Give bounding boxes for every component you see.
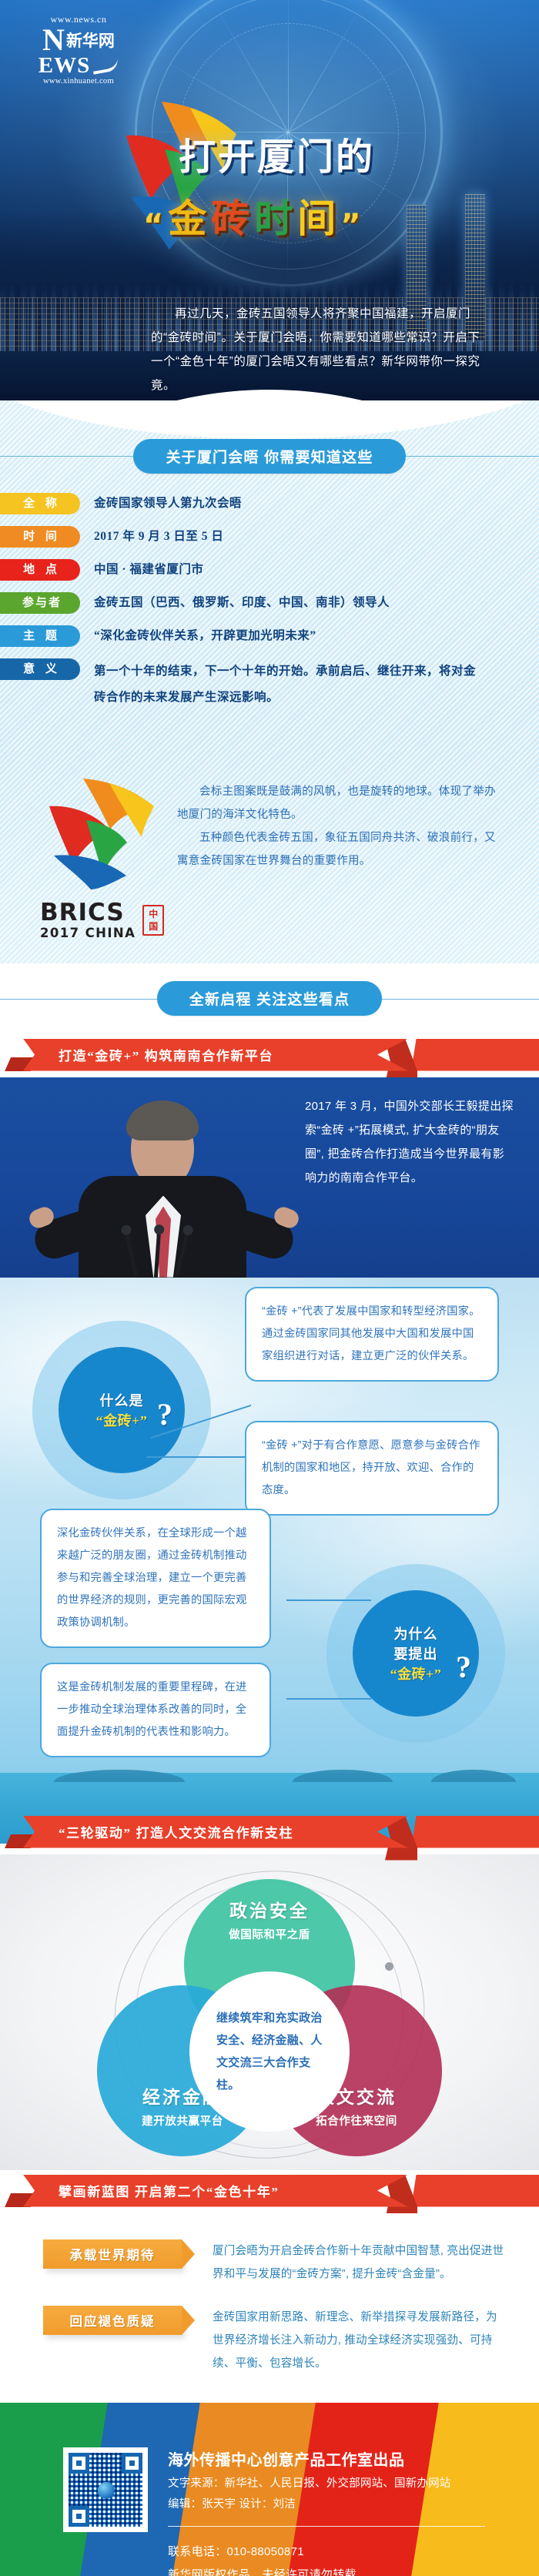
island-silhouette (293, 1770, 393, 1782)
banner-blueprint-label: 擘画新蓝图 开启第二个“金色十年” (23, 2181, 279, 2200)
ribbon-right-bar (411, 1816, 539, 1848)
footer-phone: 联系电话：010-88050871 (168, 2541, 499, 2564)
answer-bubble-3: 深化金砖伙伴关系，在全球形成一个越来越广泛的朋友圈，通过金砖机制推动参与和完善全… (40, 1509, 271, 1648)
island-silhouette (431, 1770, 516, 1782)
section-heading-facts: 关于厦门会晤 你需要知道这些 (0, 434, 539, 477)
qr-code[interactable] (63, 2447, 148, 2532)
emblem-explainer-section: BRICS 2017 CHINA 中 国 会标主图案既是鼓满的风帆，也是旋转的地… (0, 751, 539, 963)
ribbon-body: 擘画新蓝图 开启第二个“金色十年” (23, 2175, 408, 2207)
xinhua-logo: www.news.cn N 新华网 EWS www.xinhuanet.com (32, 14, 125, 85)
hero-title-main: 打开厦门的 (179, 126, 375, 180)
gold-text-expectation: 厦门会晤为开启金砖合作新十年贡献中国智慧, 亮出促进世界和平与发展的“金砖方案”… (213, 2239, 505, 2286)
fact-row: 地 点 中国 · 福建省厦门市 (18, 559, 517, 581)
figure-hair (126, 1100, 199, 1141)
question-2-badge: 为什么 要提出 “金砖+” ? (326, 1564, 505, 1743)
fact-value-full-name: 金砖国家领导人第九次会晤 (94, 493, 242, 514)
brics-sail-emblem (40, 775, 171, 891)
brics-plus-description: 2017 年 3 月，中国外交部长王毅提出探索“金砖 +”拓展模式, 扩大金砖的… (305, 1094, 514, 1190)
wangyi-photo (34, 1099, 288, 1278)
globe-icon (98, 2482, 115, 2499)
banner-three-wheels: “三轮驱动” 打造人文交流合作新支柱 (0, 1811, 539, 1854)
banner-three-wheels-label: “三轮驱动” 打造人文交流合作新支柱 (23, 1822, 293, 1841)
footer: 海外传播中心创意产品工作室出品 文字来源：新华社、人民日报、外交部网站、国新办网… (0, 2403, 539, 2576)
banner-brics-plus-label: 打造“金砖+” 构筑南南合作新平台 (23, 1045, 273, 1064)
pillar-1-sub: 做国际和平之盾 (229, 1926, 310, 1942)
emblem-para-2: 五种颜色代表金砖五国，象征五国同舟共济、破浪前行，又寓意金砖国家在世界舞台的重要… (177, 826, 502, 873)
fact-value-participants: 金砖五国（巴西、俄罗斯、印度、中国、南非）领导人 (94, 592, 390, 614)
gold-tag-expectation: 承载世界期待 (43, 2239, 182, 2269)
fact-value-significance: 第一个十年的结束，下一个十年的开始。承前启后、继往开来，将对金砖合作的未来发展产… (94, 658, 487, 711)
qa-section: 什么是 “金砖+” ? “金砖 +”代表了发展中国家和转型经济国家。通过金砖国家… (0, 1278, 539, 1844)
pillar-2-sub: 建开放共赢平台 (142, 2112, 223, 2129)
venn-center-text: 继续筑牢和充实政治安全、经济金融、人文交流三大合作支柱。 (216, 2007, 323, 2096)
gold-char-2: 砖 (211, 188, 251, 243)
question-2-line2: “金砖+” (390, 1663, 442, 1683)
question-1-line2: “金砖+” (96, 1410, 148, 1430)
question-2-line1b: 要提出 (394, 1643, 438, 1663)
infographic-page: www.news.cn N 新华网 EWS www.xinhuanet.com … (0, 0, 539, 2576)
heading-chip-label: 关于厦门会晤 你需要知道这些 (133, 439, 405, 474)
ribbon-body: 打造“金砖+” 构筑南南合作新平台 (23, 1039, 408, 1071)
fact-label-place: 地 点 (0, 559, 80, 581)
quote-open: “ (143, 208, 165, 243)
emblem-para-1: 会标主图案既是鼓满的风帆，也是旋转的地球。体现了举办地厦门的海洋文化特色。 (177, 780, 502, 826)
logo-chinese: 新华网 (66, 28, 115, 52)
connector-line-q1b (146, 1456, 246, 1458)
gold-char-4: 间 (297, 188, 337, 243)
logo-news-text: EWS (38, 55, 90, 77)
section-heading-highlights: 全新启程 关注这些看点 (0, 963, 539, 1034)
question-mark-icon: ? (456, 1649, 471, 1685)
wheel-spoke (288, 0, 289, 132)
emblem-description: 会标主图案既是鼓满的风帆，也是旋转的地球。体现了举办地厦门的海洋文化特色。 五种… (177, 771, 539, 873)
banner-blueprint: 擘画新蓝图 开启第二个“金色十年” (0, 2170, 539, 2213)
qr-eye-icon (122, 2453, 142, 2474)
pillar-3-sub: 拓合作往来空间 (316, 2112, 397, 2129)
connector-line-q2a (286, 1600, 371, 1601)
swoosh-icon (92, 58, 119, 75)
fact-row: 全 称 金砖国家领导人第九次会晤 (18, 493, 517, 514)
footer-source: 文字来源：新华社、人民日报、外交部网站、国新办网站 (168, 2474, 499, 2494)
seal-char-top: 中 (149, 909, 158, 919)
meeting-facts-section: 关于厦门会晤 你需要知道这些 全 称 金砖国家领导人第九次会晤 时 间 2017… (0, 400, 539, 751)
logo-mark: N 新华网 (32, 25, 125, 55)
fact-value-theme: “深化金砖伙伴关系，开辟更加光明未来” (94, 625, 316, 647)
hero-title-gold: “ 金 砖 时 间 ” (143, 188, 363, 243)
qr-eye-icon (69, 2453, 89, 2474)
hero-banner: www.news.cn N 新华网 EWS www.xinhuanet.com … (0, 0, 539, 400)
connector-line-q2b (286, 1698, 371, 1700)
wangyi-photo-section: 2017 年 3 月，中国外交部长王毅提出探索“金砖 +”拓展模式, 扩大金砖的… (0, 1077, 539, 1278)
footer-content: 海外传播中心创意产品工作室出品 文字来源：新华社、人民日报、外交部网站、国新办网… (168, 2447, 499, 2576)
hero-intro-paragraph: 再过几天，金砖五国领导人将齐聚中国福建，开启厦门的“金砖时间”。关于厦门会晤，你… (151, 302, 488, 397)
fact-row: 参与者 金砖五国（巴西、俄罗斯、印度、中国、南非）领导人 (18, 592, 517, 614)
island-silhouette (54, 1770, 185, 1782)
fact-value-time: 2017 年 9 月 3 日至 5 日 (94, 526, 223, 548)
brics-word-year: 2017 CHINA (40, 927, 136, 940)
pillar-1-name: 政治安全 (229, 1896, 310, 1922)
gold-char-3: 时 (254, 188, 294, 243)
fact-row: 主 题 “深化金砖伙伴关系，开辟更加光明未来” (18, 625, 517, 647)
answer-bubble-2: “金砖 +”对于有合作意愿、愿意参与金砖合作机制的国家和地区，持开放、欢迎、合作… (245, 1421, 499, 1516)
gold-tag-doubts: 回应褪色质疑 (43, 2306, 182, 2335)
gold-char-1: 金 (168, 188, 208, 243)
gold-item: 回应褪色质疑 金砖国家用新思路、新理念、新举措探寻发展新路径，为世界经济增长注入… (0, 2306, 539, 2375)
brics-emblem-block: BRICS 2017 CHINA 中 国 (0, 771, 177, 940)
ribbon-right-bar (411, 1039, 539, 1071)
footer-studio-title: 海外传播中心创意产品工作室出品 (168, 2447, 499, 2470)
fact-row: 意 义 第一个十年的结束，下一个十年的开始。承前启后、继往开来，将对金砖合作的未… (18, 658, 517, 711)
three-pillars-venn: 政治安全 做国际和平之盾 经济金融 建开放共赢平台 人文交流 拓合作往来空间 继… (0, 1854, 539, 2170)
venn-center-circle: 继续筑牢和充实政治安全、经济金融、人文交流三大合作支柱。 (189, 1971, 350, 2132)
banner-brics-plus: 打造“金砖+” 构筑南南合作新平台 (0, 1034, 539, 1077)
fact-label-time: 时 间 (0, 526, 80, 548)
brics-wordmark-text: BRICS 2017 CHINA (40, 901, 136, 940)
fact-label-significance: 意 义 (0, 658, 80, 680)
answer-bubble-4: 这是金砖机制发展的重要里程碑，在进一步推动全球治理体系改善的同时，全面提升金砖机… (40, 1663, 271, 1757)
gold-item: 承载世界期待 厦门会晤为开启金砖合作新十年贡献中国智慧, 亮出促进世界和平与发展… (0, 2239, 539, 2286)
quote-close: ” (340, 208, 362, 243)
footer-divider (168, 2526, 485, 2527)
fact-label-theme: 主 题 (0, 625, 80, 647)
qr-code-pattern (69, 2453, 142, 2527)
brics-word-brics: BRICS (40, 901, 136, 925)
orbit-dot (385, 1962, 393, 1971)
ribbon-body: “三轮驱动” 打造人文交流合作新支柱 (23, 1816, 408, 1848)
qr-eye-icon (69, 2506, 89, 2527)
question-2-line1: 为什么 (394, 1623, 438, 1643)
seal-char-bottom: 国 (149, 922, 158, 931)
fact-label-participants: 参与者 (0, 592, 80, 614)
ribbon-right-bar (411, 2175, 539, 2207)
golden-decade-section: 承载世界期待 厦门会晤为开启金砖合作新十年贡献中国智慧, 亮出促进世界和平与发展… (0, 2213, 539, 2403)
footer-copyright: 新华网版权作品，未经许可请勿转载 (168, 2564, 499, 2576)
logo-letter-n: N (42, 25, 65, 55)
answer-bubble-1: “金砖 +”代表了发展中国家和转型经济国家。通过金砖国家同其他发展中大国和发展中… (245, 1287, 499, 1382)
question-1-line1: 什么是 (100, 1390, 144, 1410)
footer-credits: 编辑：张天宇 设计：刘洁 (168, 2494, 499, 2515)
heading-chip-highlights: 全新启程 关注这些看点 (157, 981, 382, 1016)
fact-label-full-name: 全 称 (0, 493, 80, 514)
gold-text-doubts: 金砖国家用新思路、新理念、新举措探寻发展新路径，为世界经济增长注入新动力, 推动… (213, 2306, 505, 2375)
facts-list: 全 称 金砖国家领导人第九次会晤 时 间 2017 年 9 月 3 日至 5 日… (0, 493, 539, 711)
logo-url-bottom: www.xinhuanet.com (32, 77, 125, 85)
brics-wordmark: BRICS 2017 CHINA 中 国 (40, 901, 177, 940)
fact-row: 时 间 2017 年 9 月 3 日至 5 日 (18, 526, 517, 548)
china-seal-icon: 中 国 (142, 905, 164, 936)
fact-value-place: 中国 · 福建省厦门市 (94, 559, 203, 581)
